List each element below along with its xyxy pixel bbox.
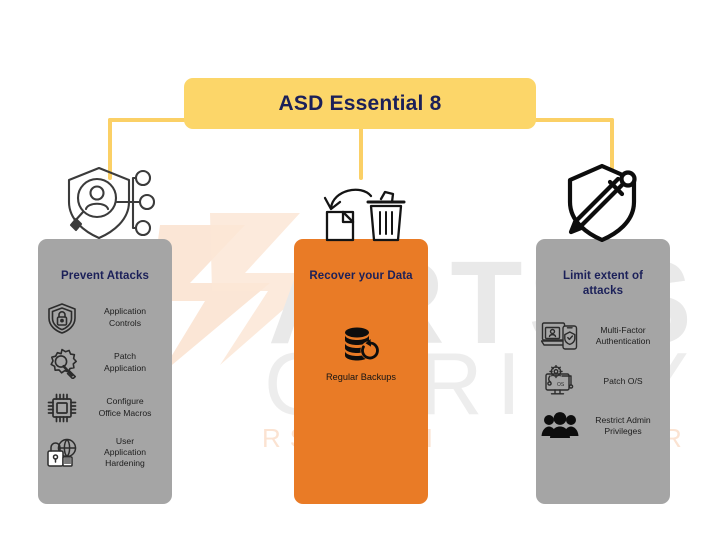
list-item[interactable]: Regular Backups — [294, 326, 428, 382]
shield-user-magnifier-network-icon — [30, 160, 180, 242]
file-restore-trash-icon — [286, 160, 436, 242]
card-title-prevent-attacks: Prevent Attacks — [38, 269, 172, 284]
page-title: ASD Essential 8 — [279, 92, 442, 116]
card-recover-your-data: Recover your Data Regular Backups — [294, 239, 428, 504]
list-item[interactable]: OS Patch O/S — [536, 361, 670, 401]
list-item[interactable]: PatchApplication — [38, 343, 172, 383]
gear-wrench-icon — [42, 343, 82, 383]
list-item[interactable]: ApplicationControls — [38, 298, 172, 338]
page-title-banner: ASD Essential 8 — [184, 78, 536, 129]
laptop-phone-mfa-icon — [540, 316, 580, 356]
infographic-canvas: ARTS S CURITY Y RSECURI R ASD Essential … — [0, 0, 722, 541]
column-limit-extent-of-attacks: Limit extent ofattacks — [528, 160, 678, 510]
list-item[interactable]: Multi-FactorAuthentication — [536, 316, 670, 356]
card-title-recover-your-data: Recover your Data — [294, 269, 428, 284]
list-item-label: Regular Backups — [326, 372, 396, 382]
item-list-limit-extent: Multi-FactorAuthentication — [536, 316, 670, 446]
list-item-label: ConfigureOffice Macros — [84, 396, 166, 419]
list-item-label: Patch O/S — [582, 376, 664, 387]
list-item[interactable]: UserApplicationHardening — [38, 433, 172, 473]
card-title-limit-extent-of-attacks: Limit extent ofattacks — [536, 269, 670, 298]
lock-globe-icon — [42, 433, 82, 473]
shield-sword-icon — [528, 160, 678, 242]
three-users-icon — [540, 406, 580, 446]
list-item-label: ApplicationControls — [84, 306, 166, 329]
item-list-prevent-attacks: ApplicationControls PatchApplication — [38, 298, 172, 473]
svg-text:OS: OS — [557, 382, 565, 388]
list-item[interactable]: ConfigureOffice Macros — [38, 388, 172, 428]
list-item-label: Multi-FactorAuthentication — [582, 325, 664, 348]
list-item-label: PatchApplication — [84, 351, 166, 374]
column-prevent-attacks: Prevent Attacks ApplicationControls — [30, 160, 180, 510]
monitor-gear-os-icon: OS — [540, 361, 580, 401]
list-item[interactable]: Restrict AdminPrivileges — [536, 406, 670, 446]
shield-lock-icon — [42, 298, 82, 338]
column-recover-your-data: Recover your Data Regular Backups — [286, 160, 436, 510]
database-restore-icon — [341, 326, 381, 362]
card-prevent-attacks: Prevent Attacks ApplicationControls — [38, 239, 172, 504]
card-limit-extent-of-attacks: Limit extent ofattacks — [536, 239, 670, 504]
list-item-label: UserApplicationHardening — [84, 436, 166, 470]
list-item-label: Restrict AdminPrivileges — [582, 415, 664, 438]
cpu-chip-icon — [42, 388, 82, 428]
